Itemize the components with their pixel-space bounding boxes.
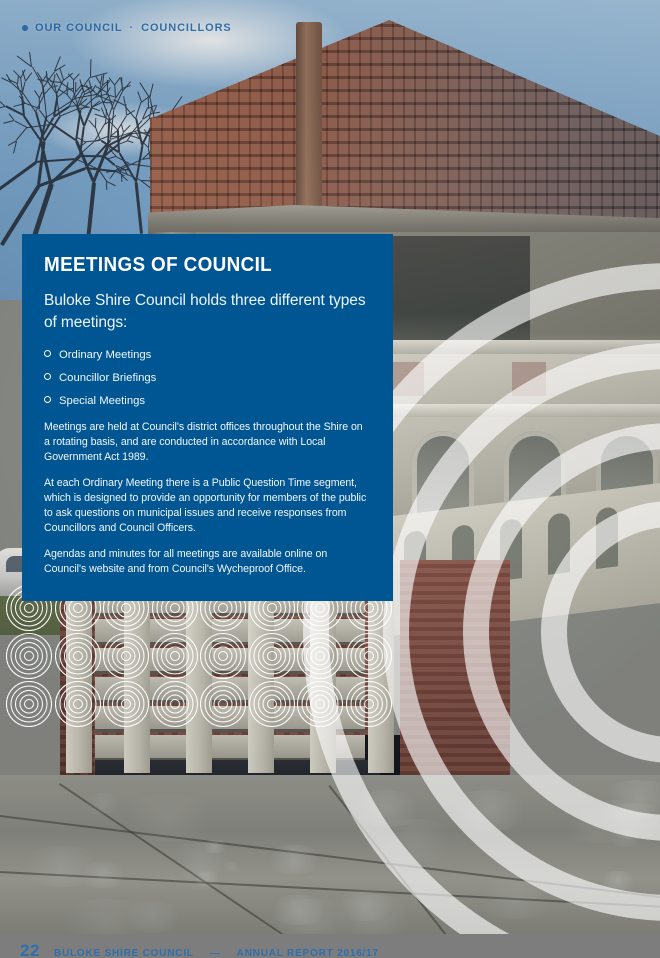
meetings-of-council-panel: MEETINGS OF COUNCIL Buloke Shire Council… <box>22 234 393 601</box>
panel-body-paragraphs: Meetings are held at Council's district … <box>44 420 371 577</box>
ring-bullet-icon <box>44 350 51 357</box>
running-header: OUR COUNCIL · COUNCILLORS <box>22 22 232 34</box>
wall-panel <box>512 362 546 396</box>
document-page: OUR COUNCIL · COUNCILLORS MEETINGS OF CO… <box>0 0 660 958</box>
bullet-dot-icon <box>22 25 28 31</box>
meeting-type-label: Ordinary Meetings <box>59 348 151 362</box>
meeting-types-list: Ordinary MeetingsCouncillor BriefingsSpe… <box>44 348 371 408</box>
running-header-primary: OUR COUNCIL <box>35 22 123 34</box>
baluster <box>548 512 570 575</box>
ring-bullet-icon <box>44 373 51 380</box>
panel-lede: Buloke Shire Council holds three differe… <box>44 290 371 334</box>
footer-separator: — <box>208 948 223 958</box>
ring-bullet-icon <box>44 396 51 403</box>
meeting-type-item: Councillor Briefings <box>44 371 371 385</box>
footer-document-title: ANNUAL REPORT 2016/17 <box>237 948 379 958</box>
meeting-type-label: Special Meetings <box>59 394 145 408</box>
baluster <box>596 506 618 569</box>
brick-wall-right <box>400 560 510 775</box>
panel-paragraph: Meetings are held at Council's district … <box>44 420 371 465</box>
panel-heading: MEETINGS OF COUNCIL <box>44 254 345 276</box>
meeting-type-item: Special Meetings <box>44 394 371 408</box>
wall-panel <box>390 362 424 396</box>
panel-paragraph: Agendas and minutes for all meetings are… <box>44 547 371 577</box>
meeting-type-label: Councillor Briefings <box>59 371 156 385</box>
roof-ridge <box>296 22 322 218</box>
running-header-separator: · <box>130 22 135 34</box>
concrete-pavement <box>0 775 660 934</box>
panel-paragraph: At each Ordinary Meeting there is a Publ… <box>44 476 371 536</box>
footer-organisation: BULOKE SHIRE COUNCIL <box>54 948 194 958</box>
meeting-type-item: Ordinary Meetings <box>44 348 371 362</box>
page-number: 22 <box>20 941 40 958</box>
running-header-secondary: COUNCILLORS <box>141 22 232 34</box>
page-footer: 22 BULOKE SHIRE COUNCIL — ANNUAL REPORT … <box>0 934 660 958</box>
